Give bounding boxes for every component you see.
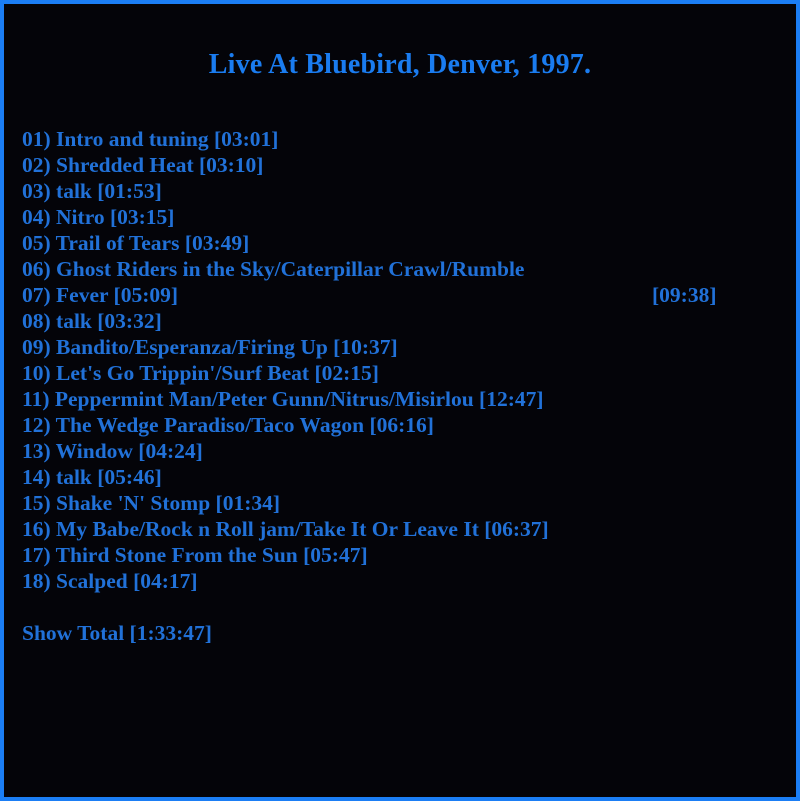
track-label: 07) Fever [05:09] bbox=[22, 283, 178, 307]
track-row: 11) Peppermint Man/Peter Gunn/Nitrus/Mis… bbox=[22, 386, 796, 412]
track-label: 18) Scalped [04:17] bbox=[22, 569, 198, 593]
track-label: 15) Shake 'N' Stomp [01:34] bbox=[22, 491, 280, 515]
blank-spacer-line bbox=[22, 594, 796, 620]
show-total: Show Total [1:33:47] bbox=[22, 620, 796, 646]
track-row: 02) Shredded Heat [03:10] bbox=[22, 152, 796, 178]
track-row: 10) Let's Go Trippin'/Surf Beat [02:15] bbox=[22, 360, 796, 386]
track-label: 17) Third Stone From the Sun [05:47] bbox=[22, 543, 368, 567]
track-label: 12) The Wedge Paradiso/Taco Wagon [06:16… bbox=[22, 413, 434, 437]
track-row: 13) Window [04:24] bbox=[22, 438, 796, 464]
track-label: 16) My Babe/Rock n Roll jam/Take It Or L… bbox=[22, 517, 549, 541]
track-label: 08) talk [03:32] bbox=[22, 309, 162, 333]
track-row: 03) talk [01:53] bbox=[22, 178, 796, 204]
track-row: 08) talk [03:32] bbox=[22, 308, 796, 334]
track-label: 09) Bandito/Esperanza/Firing Up [10:37] bbox=[22, 335, 398, 359]
track-row: 15) Shake 'N' Stomp [01:34] bbox=[22, 490, 796, 516]
track-row: 07) Fever [05:09][09:38] bbox=[22, 282, 796, 308]
track-row: 04) Nitro [03:15] bbox=[22, 204, 796, 230]
page-title: Live At Bluebird, Denver, 1997. bbox=[4, 48, 796, 82]
tracklist: 01) Intro and tuning [03:01]02) Shredded… bbox=[22, 126, 796, 646]
track-row: 05) Trail of Tears [03:49] bbox=[22, 230, 796, 256]
track-trailing-time: [09:38] bbox=[652, 282, 716, 308]
track-row: 01) Intro and tuning [03:01] bbox=[22, 126, 796, 152]
track-label: 01) Intro and tuning [03:01] bbox=[22, 127, 278, 151]
setlist-page: Live At Bluebird, Denver, 1997. 01) Intr… bbox=[0, 0, 800, 801]
track-label: 13) Window [04:24] bbox=[22, 439, 203, 463]
track-row: 09) Bandito/Esperanza/Firing Up [10:37] bbox=[22, 334, 796, 360]
track-row: 18) Scalped [04:17] bbox=[22, 568, 796, 594]
track-row: 17) Third Stone From the Sun [05:47] bbox=[22, 542, 796, 568]
track-label: 03) talk [01:53] bbox=[22, 179, 162, 203]
track-row: 06) Ghost Riders in the Sky/Caterpillar … bbox=[22, 256, 796, 282]
track-label: 11) Peppermint Man/Peter Gunn/Nitrus/Mis… bbox=[22, 387, 544, 411]
track-row: 14) talk [05:46] bbox=[22, 464, 796, 490]
track-label: 02) Shredded Heat [03:10] bbox=[22, 153, 263, 177]
track-label: 14) talk [05:46] bbox=[22, 465, 162, 489]
track-label: 05) Trail of Tears [03:49] bbox=[22, 231, 249, 255]
track-label: 04) Nitro [03:15] bbox=[22, 205, 174, 229]
track-label: 10) Let's Go Trippin'/Surf Beat [02:15] bbox=[22, 361, 379, 385]
track-label: 06) Ghost Riders in the Sky/Caterpillar … bbox=[22, 257, 524, 281]
track-row: 16) My Babe/Rock n Roll jam/Take It Or L… bbox=[22, 516, 796, 542]
track-row: 12) The Wedge Paradiso/Taco Wagon [06:16… bbox=[22, 412, 796, 438]
